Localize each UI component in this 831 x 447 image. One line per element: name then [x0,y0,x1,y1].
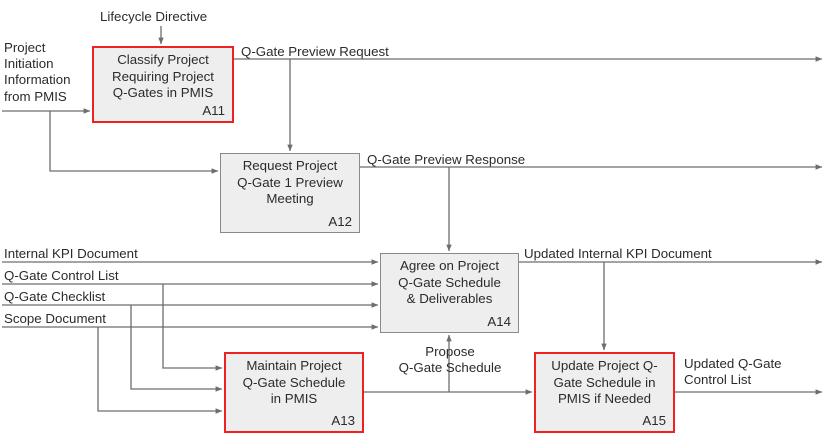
activity-code-a14: A14 [487,314,511,330]
idef0-diagram: Classify Project Requiring Project Q-Gat… [0,0,831,447]
flow-label-q-gate-checklist: Q-Gate Checklist [4,289,194,305]
flow-label-q-gate-control-list: Q-Gate Control List [4,268,194,284]
flow-label-project-initiation-info: Project Initiation Information from PMIS [4,40,90,105]
activity-title-a15: Update Project Q- Gate Schedule in PMIS … [536,358,673,408]
activity-box-a11[interactable]: Classify Project Requiring Project Q-Gat… [92,46,234,123]
activity-box-a13[interactable]: Maintain Project Q-Gate Schedule in PMIS… [224,352,364,433]
activity-code-a12: A12 [328,214,352,230]
activity-box-a12[interactable]: Request Project Q-Gate 1 Preview Meeting… [220,153,360,233]
flow-label-updated-internal-kpi-document: Updated Internal KPI Document [524,246,794,262]
activity-title-a12: Request Project Q-Gate 1 Preview Meeting [221,158,359,208]
flow-label-lifecycle-directive: Lifecycle Directive [100,9,240,25]
activity-box-a15[interactable]: Update Project Q- Gate Schedule in PMIS … [534,352,675,433]
flow-label-internal-kpi-document: Internal KPI Document [4,246,194,262]
activity-code-a13: A13 [331,413,355,429]
flow-label-q-gate-preview-request: Q-Gate Preview Request [241,44,471,60]
activity-box-a14[interactable]: Agree on Project Q-Gate Schedule & Deliv… [380,253,519,333]
flow-label-updated-q-gate-control-list: Updated Q-Gate Control List [684,356,829,388]
activity-code-a15: A15 [642,413,666,429]
wire-scope-document-to-a13 [98,327,222,411]
activity-title-a11: Classify Project Requiring Project Q-Gat… [94,52,232,102]
activity-title-a14: Agree on Project Q-Gate Schedule & Deliv… [381,258,518,308]
flow-label-q-gate-preview-response: Q-Gate Preview Response [367,152,607,168]
flow-label-propose-q-gate-schedule: Propose Q-Gate Schedule [388,344,512,376]
flow-label-scope-document: Scope Document [4,311,194,327]
activity-code-a11: A11 [202,103,225,119]
activity-title-a13: Maintain Project Q-Gate Schedule in PMIS [226,358,362,408]
